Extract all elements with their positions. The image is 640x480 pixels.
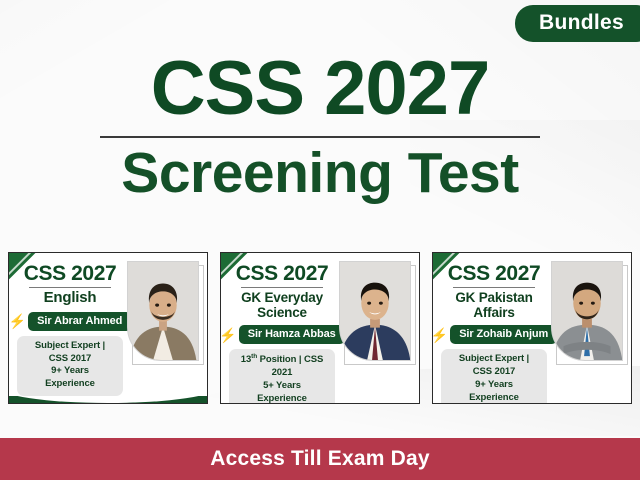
card-course-code: CSS 2027 (24, 263, 117, 285)
page-subtitle: Screening Test (0, 144, 640, 204)
card-subject: GK Everyday Science (229, 290, 335, 320)
card-body: CSS 2027 GK Everyday Science ⚡ Sir Hamza… (221, 253, 419, 404)
card-info: CSS 2027 English ⚡ Sir Abrar Ahmed Subje… (17, 259, 123, 396)
card-footer-access: Access Till Exams Day (9, 396, 207, 404)
teacher-name-pill: Sir Zohaib Anjum (450, 325, 557, 344)
card-course-code: CSS 2027 (448, 263, 541, 285)
bundles-badge: Bundles (515, 5, 640, 42)
card-divider (241, 287, 324, 288)
credentials-pill: 13th Position | CSS 2021 5+ Years Experi… (229, 349, 335, 404)
credential-line-1: Subject Expert | CSS 2017 (449, 353, 539, 379)
bolt-icon: ⚡ (220, 328, 237, 342)
instructor-photo (551, 261, 623, 361)
bolt-icon: ⚡ (432, 328, 448, 342)
title-divider (100, 136, 540, 138)
headline-block: CSS 2027 Screening Test (0, 52, 640, 204)
credential-line-1: 13th Position | CSS 2021 (237, 353, 327, 380)
card-subject: English (44, 290, 97, 307)
teacher-name-pill: Sir Abrar Ahmed (28, 312, 131, 331)
page-title: CSS 2027 (0, 52, 640, 126)
credentials-pill: Subject Expert | CSS 2017 9+ Years Exper… (17, 336, 123, 396)
bolt-icon: ⚡ (9, 314, 26, 328)
credentials-pill: Subject Expert | CSS 2017 9+ Years Exper… (441, 349, 547, 404)
card-divider (29, 287, 112, 288)
credential-line-1: Subject Expert | CSS 2017 (25, 340, 115, 366)
teacher-name-pill: Sir Hamza Abbas (239, 325, 345, 344)
card-course-code: CSS 2027 (236, 263, 329, 285)
credential-line-2: 9+ Years Experience (449, 379, 539, 404)
teacher-row: ⚡ Sir Hamza Abbas (220, 325, 345, 344)
instructor-photo-frame (127, 261, 199, 361)
card-body: CSS 2027 English ⚡ Sir Abrar Ahmed Subje… (9, 253, 207, 396)
course-card-gk-everyday-science[interactable]: CSS 2027 GK Everyday Science ⚡ Sir Hamza… (220, 252, 420, 404)
instructor-photo (127, 261, 199, 361)
bottom-banner: Access Till Exam Day (0, 438, 640, 480)
card-subject: GK Pakistan Affairs (441, 290, 547, 320)
instructor-photo-frame (551, 261, 623, 361)
promo-poster: Bundles CSS 2027 Screening Test CSS 2027… (0, 0, 640, 480)
course-cards-row: CSS 2027 English ⚡ Sir Abrar Ahmed Subje… (8, 252, 632, 404)
card-divider (453, 287, 536, 288)
instructor-photo-frame (339, 261, 411, 361)
credential-line-2: 9+ Years Experience (25, 365, 115, 391)
card-footer-label: Access Till Exams Day (50, 403, 166, 404)
teacher-row: ⚡ Sir Zohaib Anjum (432, 325, 557, 344)
card-info: CSS 2027 GK Everyday Science ⚡ Sir Hamza… (229, 259, 335, 404)
course-card-english[interactable]: CSS 2027 English ⚡ Sir Abrar Ahmed Subje… (8, 252, 208, 404)
card-body: CSS 2027 GK Pakistan Affairs ⚡ Sir Zohai… (433, 253, 631, 404)
teacher-row: ⚡ Sir Abrar Ahmed (9, 312, 132, 331)
credential-line-2: 5+ Years Experience (237, 380, 327, 404)
course-card-gk-pakistan-affairs[interactable]: CSS 2027 GK Pakistan Affairs ⚡ Sir Zohai… (432, 252, 632, 404)
card-info: CSS 2027 GK Pakistan Affairs ⚡ Sir Zohai… (441, 259, 547, 404)
instructor-photo (339, 261, 411, 361)
bottom-banner-label: Access Till Exam Day (210, 447, 430, 471)
